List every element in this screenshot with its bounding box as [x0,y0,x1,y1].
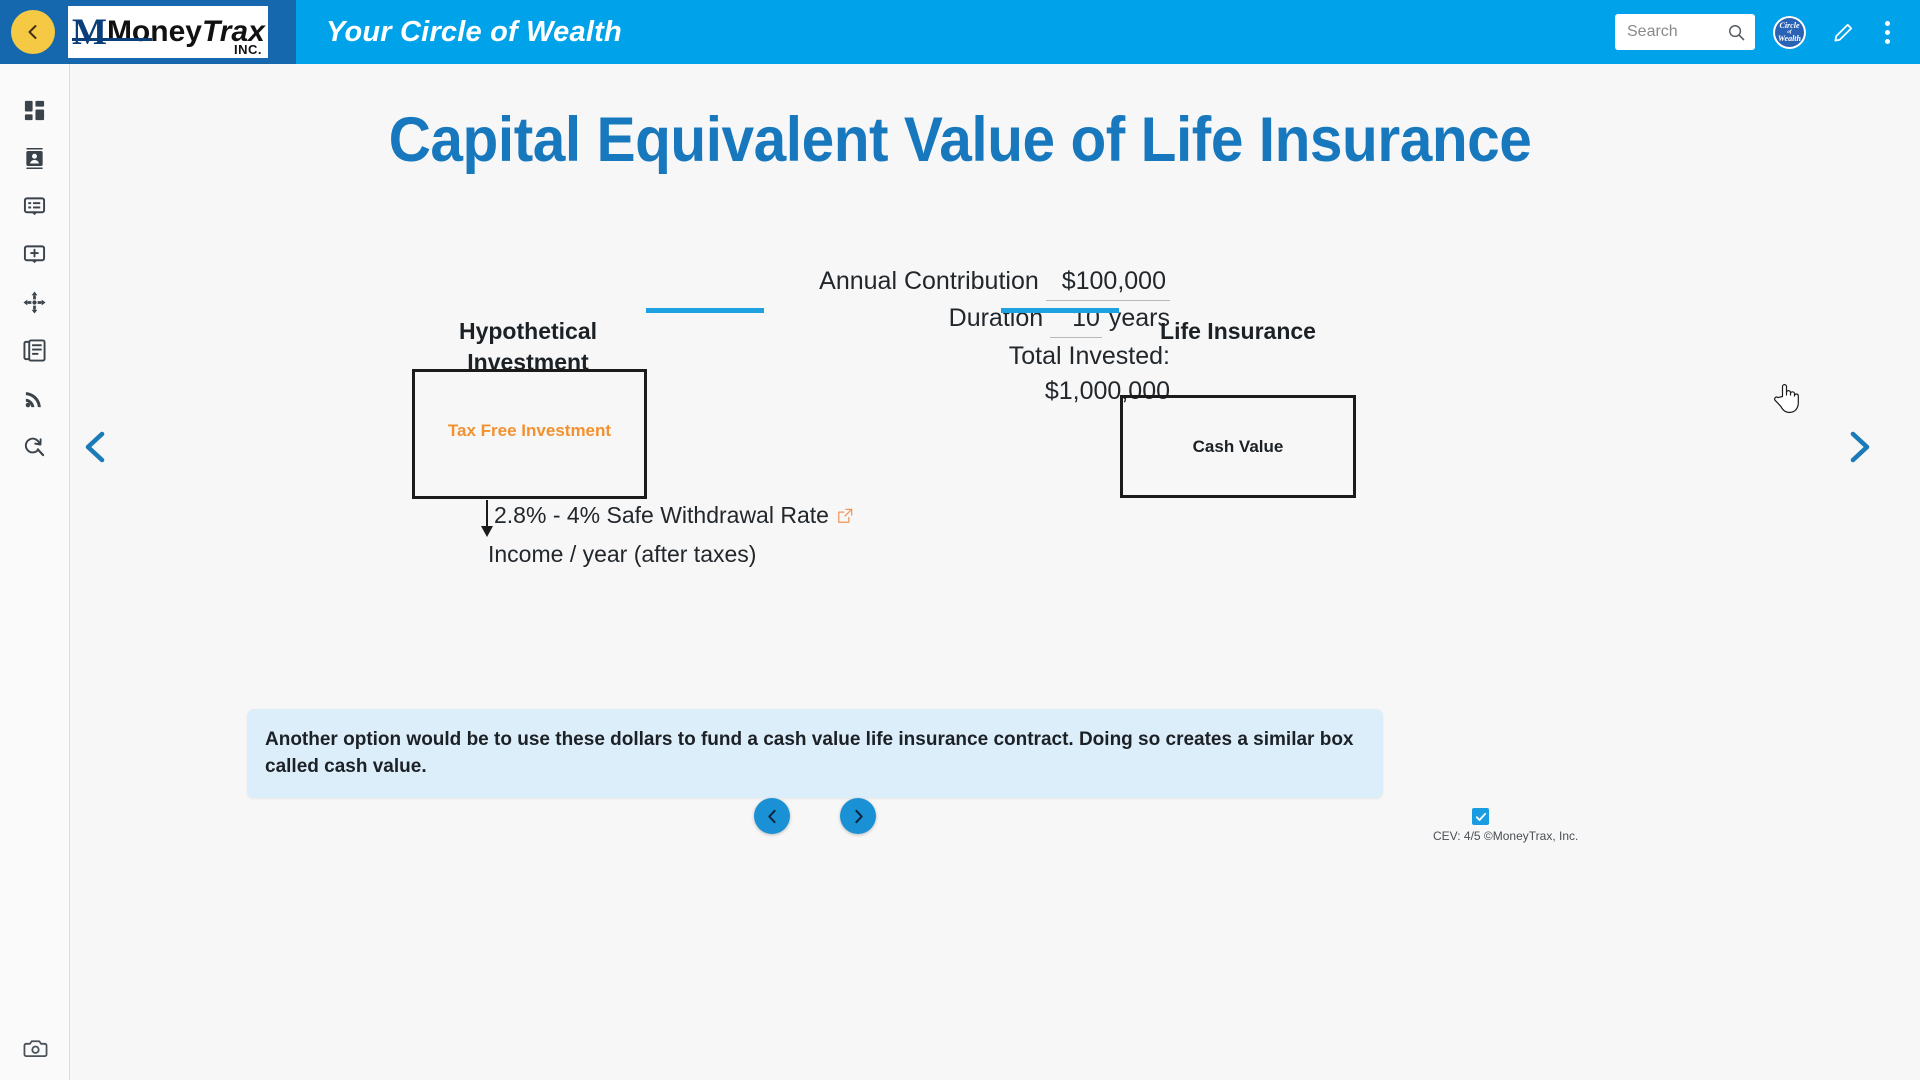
annual-contribution-value[interactable]: $100,000 [1046,264,1170,301]
duration-value[interactable]: 10 [1050,301,1102,338]
slide-prev-button[interactable] [754,798,790,834]
cow-logo-line1: Circle [1780,22,1800,30]
contact-card-icon [23,147,46,170]
checkmark-icon [1475,811,1487,823]
slide-canvas: Capital Equivalent Value of Life Insuran… [70,64,1920,1080]
flow-bar-right [1001,308,1119,313]
sidebar-item-presentations[interactable] [12,182,58,230]
move-arrows-icon [23,291,46,314]
sidebar-item-feed[interactable] [12,374,58,422]
chevron-right-large-icon [1836,424,1882,470]
footer-checkbox[interactable] [1472,808,1489,825]
duration-row: Duration 10 years [690,301,1170,338]
annual-contribution-row: Annual Contribution $100,000 [690,264,1170,301]
income-per-year-text: Income / year (after taxes) [488,541,756,568]
slide-caption: Another option would be to use these dol… [247,709,1383,798]
flow-bar-left [646,308,764,313]
rss-feed-icon [23,387,46,410]
screenshot-camera-button[interactable] [0,1028,70,1068]
kebab-dot [1885,21,1890,26]
circle-of-wealth-logo[interactable]: Circle of Wealth [1773,16,1806,49]
total-invested-label: Total Invested: [690,339,1170,374]
sidebar-item-contacts[interactable] [12,134,58,182]
annual-contribution-label: Annual Contribution [819,267,1039,295]
presentation-icon [23,195,46,218]
withdrawal-arrow-head [481,526,493,537]
back-chevron-icon [23,22,43,42]
header-back-button[interactable] [11,10,55,54]
search-box[interactable] [1615,14,1755,50]
sidebar-item-documents[interactable] [12,326,58,374]
edit-pencil-button[interactable] [1826,12,1860,52]
hypothetical-heading-line1: Hypothetical [408,316,648,347]
slide-title: Capital Equivalent Value of Life Insuran… [132,104,1787,176]
tax-free-investment-box[interactable]: Tax Free Investment [412,369,647,499]
sidebar-item-move[interactable] [12,278,58,326]
logo-underline-rule [72,38,152,41]
footer-copyright-text: CEV: 4/5 ©MoneyTrax, Inc. [1433,829,1578,843]
documents-icon [23,339,46,362]
logo-money-text: Money [107,17,202,47]
page-previous-chevron[interactable] [73,424,119,475]
logo-inc-text: INC. [234,42,262,57]
moneytrax-logo[interactable]: M Money Trax INC. [68,6,268,58]
safe-withdrawal-rate-row: 2.8% - 4% Safe Withdrawal Rate [494,502,853,529]
header-brand-area: M Money Trax INC. [0,0,296,64]
pencil-icon [1831,20,1856,45]
search-input[interactable] [1627,23,1719,41]
safe-withdrawal-rate-text: 2.8% - 4% Safe Withdrawal Rate [494,502,829,529]
chevron-right-icon [850,808,867,825]
sidebar-item-refresh-search[interactable] [12,422,58,470]
app-title: Your Circle of Wealth [326,0,622,64]
logo-mt-monogram: M [72,14,104,51]
header-actions: Circle of Wealth [1615,0,1902,64]
camera-icon [23,1036,48,1061]
sidebar-icon-list [0,64,69,470]
slide-next-button[interactable] [840,798,876,834]
add-screen-icon [23,243,46,266]
kebab-dot [1885,39,1890,44]
top-header-bar: M Money Trax INC. Your Circle of Wealth … [0,0,1920,64]
cow-logo-line3: Wealth [1778,35,1801,43]
search-icon[interactable] [1727,23,1746,42]
sidebar-item-dashboard[interactable] [12,86,58,134]
page-next-chevron[interactable] [1836,424,1882,475]
dashboard-icon [23,99,46,122]
sidebar-item-add-presentation[interactable] [12,230,58,278]
cash-value-box[interactable]: Cash Value [1120,395,1356,498]
tax-free-investment-label: Tax Free Investment [448,421,611,441]
kebab-dot [1885,30,1890,35]
refresh-search-icon [23,435,46,458]
total-invested-value: $1,000,000 [690,374,1170,409]
chevron-left-icon [764,808,781,825]
cash-value-label: Cash Value [1193,437,1284,457]
slide-footer: CEV: 4/5 ©MoneyTrax, Inc. [1433,808,1578,843]
contribution-summary: Annual Contribution $100,000 Duration 10… [690,264,1170,409]
chevron-left-large-icon [73,424,119,470]
external-link-icon[interactable] [837,508,853,524]
overflow-menu-button[interactable] [1872,12,1902,52]
life-insurance-heading: Life Insurance [1118,316,1358,347]
left-sidebar [0,64,70,1080]
